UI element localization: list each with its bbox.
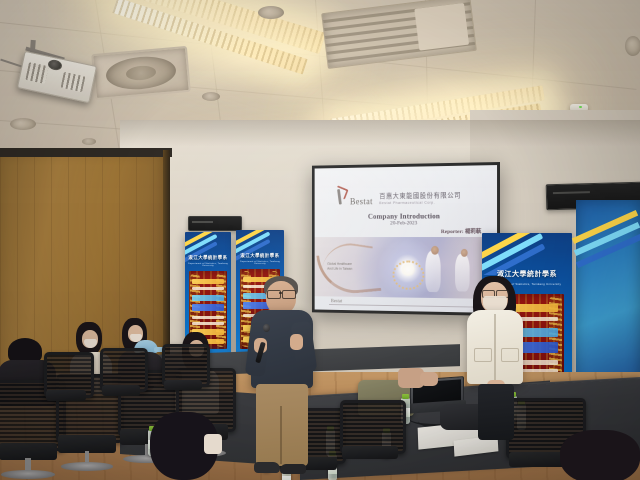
host-face-mask: [483, 296, 507, 311]
banner-department-cn: 淑江大學統計學系: [185, 256, 231, 261]
microphone-head-icon: [263, 324, 270, 332]
banner-department-en: Department of Statistics, Tamkang Univer…: [236, 261, 284, 265]
office-chair: [162, 344, 204, 400]
slide-logo-text: Bestat: [350, 197, 373, 206]
slide-date: 20-Feb-2023: [315, 220, 497, 227]
slide-footer-logo: Bestat: [331, 299, 342, 304]
screen-surface: Bestat 百惠大東能國股份有限公司 Bestat Pharmaceutica…: [315, 165, 497, 313]
slide-reporter-name: 楊莉蓻: [465, 229, 481, 235]
hero-figure-head: [431, 246, 439, 255]
slide-footer-rule: [329, 304, 481, 308]
host-legs: [478, 384, 514, 440]
presenter-hand-right: [290, 334, 303, 350]
host-pocket: [474, 348, 492, 362]
ceiling-speaker-icon: [258, 6, 284, 19]
ceiling-air-diffuser-icon: [91, 46, 191, 100]
wall-ceiling-shadow: [120, 120, 640, 146]
presenter-shoe: [254, 462, 280, 473]
office-chair: [340, 400, 400, 472]
presentation-slide: Bestat 百惠大東能國股份有限公司 Bestat Pharmaceutica…: [315, 165, 497, 313]
ceiling-speaker-icon: [202, 92, 220, 101]
office-chair: [100, 348, 142, 406]
slide-hero-image: Global Healthcare And Life in Taiwan: [315, 237, 497, 299]
ceiling-speaker-icon: [625, 36, 640, 56]
ceiling-speaker-icon: [10, 118, 36, 130]
banner-department-cn: 淑江大學統計學系: [236, 254, 284, 259]
hero-figure: [455, 254, 470, 292]
partition-top-rail: [0, 148, 172, 157]
banner-deco: [236, 230, 284, 265]
smoke-detector-icon: [82, 138, 96, 145]
presenter-shoe: [280, 464, 306, 474]
banner-department-en: Department of Statistics, Tamkang Univer…: [185, 263, 231, 267]
slide-reporter-label: Reporter:: [441, 229, 464, 235]
slide-company-name-en: Bestat Pharmaceutical Corp.: [379, 200, 461, 205]
wall-sign-left: [188, 216, 242, 231]
banner-deco: [482, 233, 572, 275]
host-pocket: [501, 348, 519, 362]
presenter-glasses-icon: [282, 290, 296, 299]
slide-reporter: Reporter: 楊莉蓻: [441, 227, 481, 235]
presenter-legs: [256, 384, 308, 466]
bestat-mark-icon: [334, 187, 346, 206]
hero-figure: [426, 250, 441, 291]
office-chair: [44, 352, 88, 412]
slide-logo: Bestat 百惠大東能國股份有限公司 Bestat Pharmaceutica…: [334, 186, 461, 207]
projection-screen: Bestat 百惠大東能國股份有限公司 Bestat Pharmaceutica…: [312, 162, 500, 316]
seminar-room-photo: Bestat 百惠大東能國股份有限公司 Bestat Pharmaceutica…: [0, 0, 640, 480]
hero-caption-line-2: And Life in Taiwan: [327, 267, 352, 272]
slide-footer: Bestat: [315, 291, 497, 308]
hero-caption: Global Healthcare And Life in Taiwan: [327, 262, 352, 272]
